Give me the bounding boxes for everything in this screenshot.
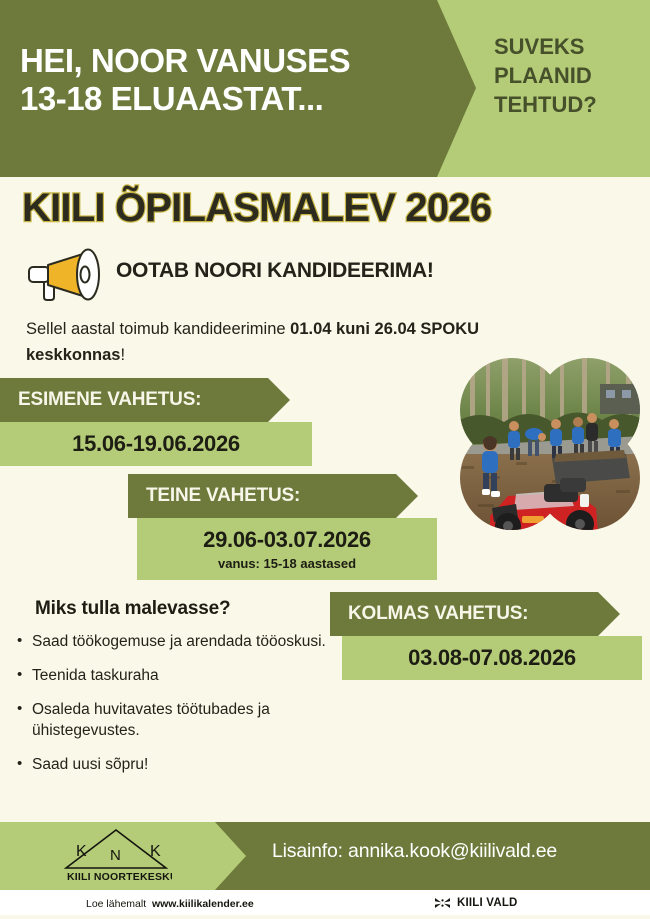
shift-2-age-note: vanus: 15-18 aastased: [218, 556, 356, 571]
knk-logo-left-letter: K: [76, 843, 87, 860]
shift-3-label: KOLMAS VAHETUS:: [348, 603, 528, 625]
shift-1-date: 15.06-19.06.2026: [72, 431, 240, 457]
shift-2-date: 29.06-03.07.2026: [203, 527, 371, 553]
header-kicker-line2: PLAANID: [494, 61, 644, 90]
read-more-label: Loe lähemalt: [86, 898, 146, 910]
page-title: KIILI ÕPILASMALEV 2026: [22, 186, 491, 231]
footer-contact-email[interactable]: Lisainfo: annika.kook@kiilivald.ee: [272, 840, 557, 863]
header-banner: HEI, NOOR VANUSES 13-18 ELUAASTAT... SUV…: [0, 0, 650, 177]
activity-photo: [456, 358, 644, 530]
bottom-read-more: Loe lähemalt www.kiilikalender.ee: [86, 898, 254, 910]
bottom-hairline: [0, 915, 650, 919]
header-headline-line2: 13-18 ELUAASTAT...: [20, 80, 440, 118]
kiili-vald-label: KIILI VALD: [457, 897, 518, 909]
header-kicker-line1: SUVEKS: [494, 32, 644, 61]
why-join-title: Miks tulla malevasse?: [35, 598, 230, 620]
kiili-noortekeskus-logo: K N K KIILI NOORTEKESKUS: [60, 826, 172, 884]
shift-2-body: 29.06-03.07.2026 vanus: 15-18 aastased: [137, 518, 437, 580]
header-kicker-line3: TEHTUD?: [494, 90, 644, 119]
intro-dates: 01.04 kuni 26.04: [290, 320, 416, 338]
shift-3-label-banner: KOLMAS VAHETUS:: [330, 592, 620, 636]
subtitle: OOTAB NOORI KANDIDEERIMA!: [116, 259, 434, 283]
why-join-list: Saad töökogemuse ja arendada tööoskusi. …: [14, 632, 326, 789]
knk-logo-caption: KIILI NOORTEKESKUS: [67, 871, 172, 883]
kiili-vald-logo-icon: [434, 896, 451, 910]
header-headline-line1: HEI, NOOR VANUSES: [20, 42, 440, 80]
shift-1-label-banner: ESIMENE VAHETUS:: [0, 378, 290, 422]
list-item: Saad uusi sõpru!: [14, 755, 326, 776]
read-more-url[interactable]: www.kiilikalender.ee: [152, 898, 254, 910]
shift-3-date: 03.08-07.08.2026: [408, 645, 576, 671]
poster: HEI, NOOR VANUSES 13-18 ELUAASTAT... SUV…: [0, 0, 650, 919]
knk-logo-middle-letter: N: [110, 847, 121, 864]
list-item: Teenida taskuraha: [14, 666, 326, 687]
intro-lead: Sellel aastal toimub kandideerimine: [26, 320, 290, 338]
knk-logo-right-letter: K: [150, 843, 161, 860]
shift-1-label: ESIMENE VAHETUS:: [18, 389, 201, 411]
shift-2-label: TEINE VAHETUS:: [146, 485, 300, 507]
shift-2-label-banner: TEINE VAHETUS:: [128, 474, 418, 518]
header-kicker: SUVEKS PLAANID TEHTUD?: [494, 32, 644, 119]
intro-tail: !: [120, 346, 125, 364]
megaphone-icon: [24, 247, 108, 301]
header-headline: HEI, NOOR VANUSES 13-18 ELUAASTAT...: [20, 42, 440, 117]
list-item: Saad töökogemuse ja arendada tööoskusi.: [14, 632, 326, 653]
shift-1-body: 15.06-19.06.2026: [0, 422, 312, 466]
kiili-vald-logo: KIILI VALD: [434, 896, 518, 910]
list-item: Osaleda huvitavates töötubades ja ühiste…: [14, 700, 326, 742]
shift-3-body: 03.08-07.08.2026: [342, 636, 642, 680]
